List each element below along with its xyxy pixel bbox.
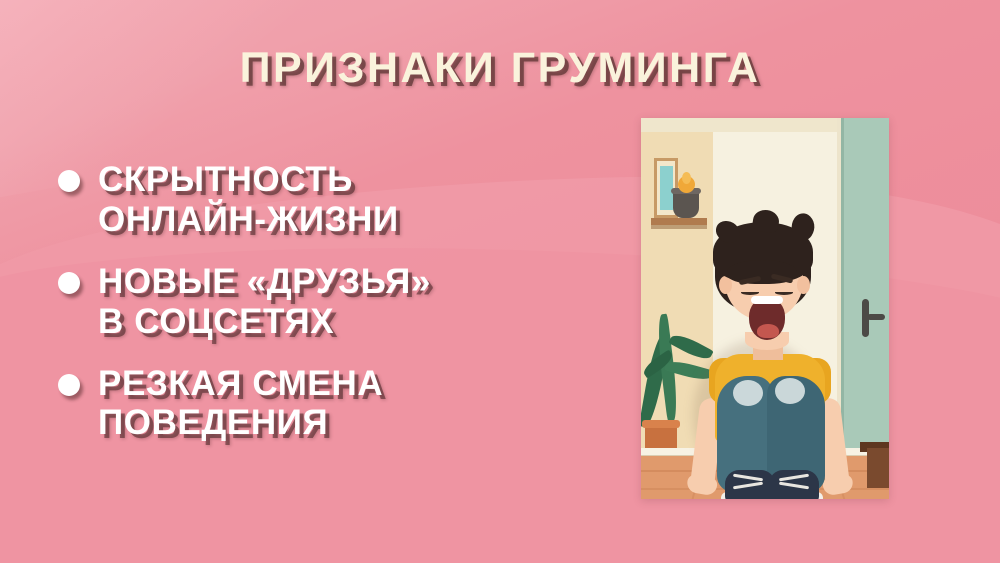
list-item-line: В СОЦСЕТЯХ [98,302,431,342]
flower-pot [673,190,699,218]
slide-root: ПРИЗНАКИ ГРУМИНГА СКРЫТНОСТЬ ОНЛАЙН-ЖИЗН… [0,0,1000,563]
bullet-dot-icon [58,170,80,192]
furniture [867,448,889,488]
boy-ear-right [797,276,810,294]
boy-jeans-rip-left [733,380,763,406]
boy-teeth [751,296,783,304]
page-title: ПРИЗНАКИ ГРУМИНГА [0,44,1000,93]
crying-boy-illustration [641,118,889,499]
door [841,118,889,456]
list-item-text: СКРЫТНОСТЬ ОНЛАЙН-ЖИЗНИ [98,160,399,240]
door-shadow-line [841,118,844,456]
bullet-dot-icon [58,272,80,294]
list-item-line: РЕЗКАЯ СМЕНА [98,364,383,404]
list-item-line: ПОВЕДЕНИЯ [98,403,383,443]
list-item-line: ОНЛАЙН-ЖИЗНИ [98,200,399,240]
boy-jeans-rip-right [775,378,805,404]
plant-pot-rim [642,420,680,428]
list-item-text: НОВЫЕ «ДРУЗЬЯ» В СОЦСЕТЯХ [98,262,431,342]
list-item: РЕЗКАЯ СМЕНА ПОВЕДЕНИЯ [58,364,618,444]
wall-shelf [651,218,707,225]
boy-eye-left-closed [741,290,759,295]
bullet-dot-icon [58,374,80,396]
cactus-flower-highlight [682,172,691,184]
list-item-line: СКРЫТНОСТЬ [98,160,399,200]
boy-eye-right-closed [775,290,793,295]
list-item-line: НОВЫЕ «ДРУЗЬЯ» [98,262,431,302]
list-item: НОВЫЕ «ДРУЗЬЯ» В СОЦСЕТЯХ [58,262,618,342]
list-item-text: РЕЗКАЯ СМЕНА ПОВЕДЕНИЯ [98,364,383,444]
signs-list: СКРЫТНОСТЬ ОНЛАЙН-ЖИЗНИ НОВЫЕ «ДРУЗЬЯ» В… [58,160,618,465]
wall-shelf-shadow [651,225,707,229]
boy-tongue [757,324,779,338]
door-handle-lever-icon [867,314,885,320]
list-item: СКРЫТНОСТЬ ОНЛАЙН-ЖИЗНИ [58,160,618,240]
